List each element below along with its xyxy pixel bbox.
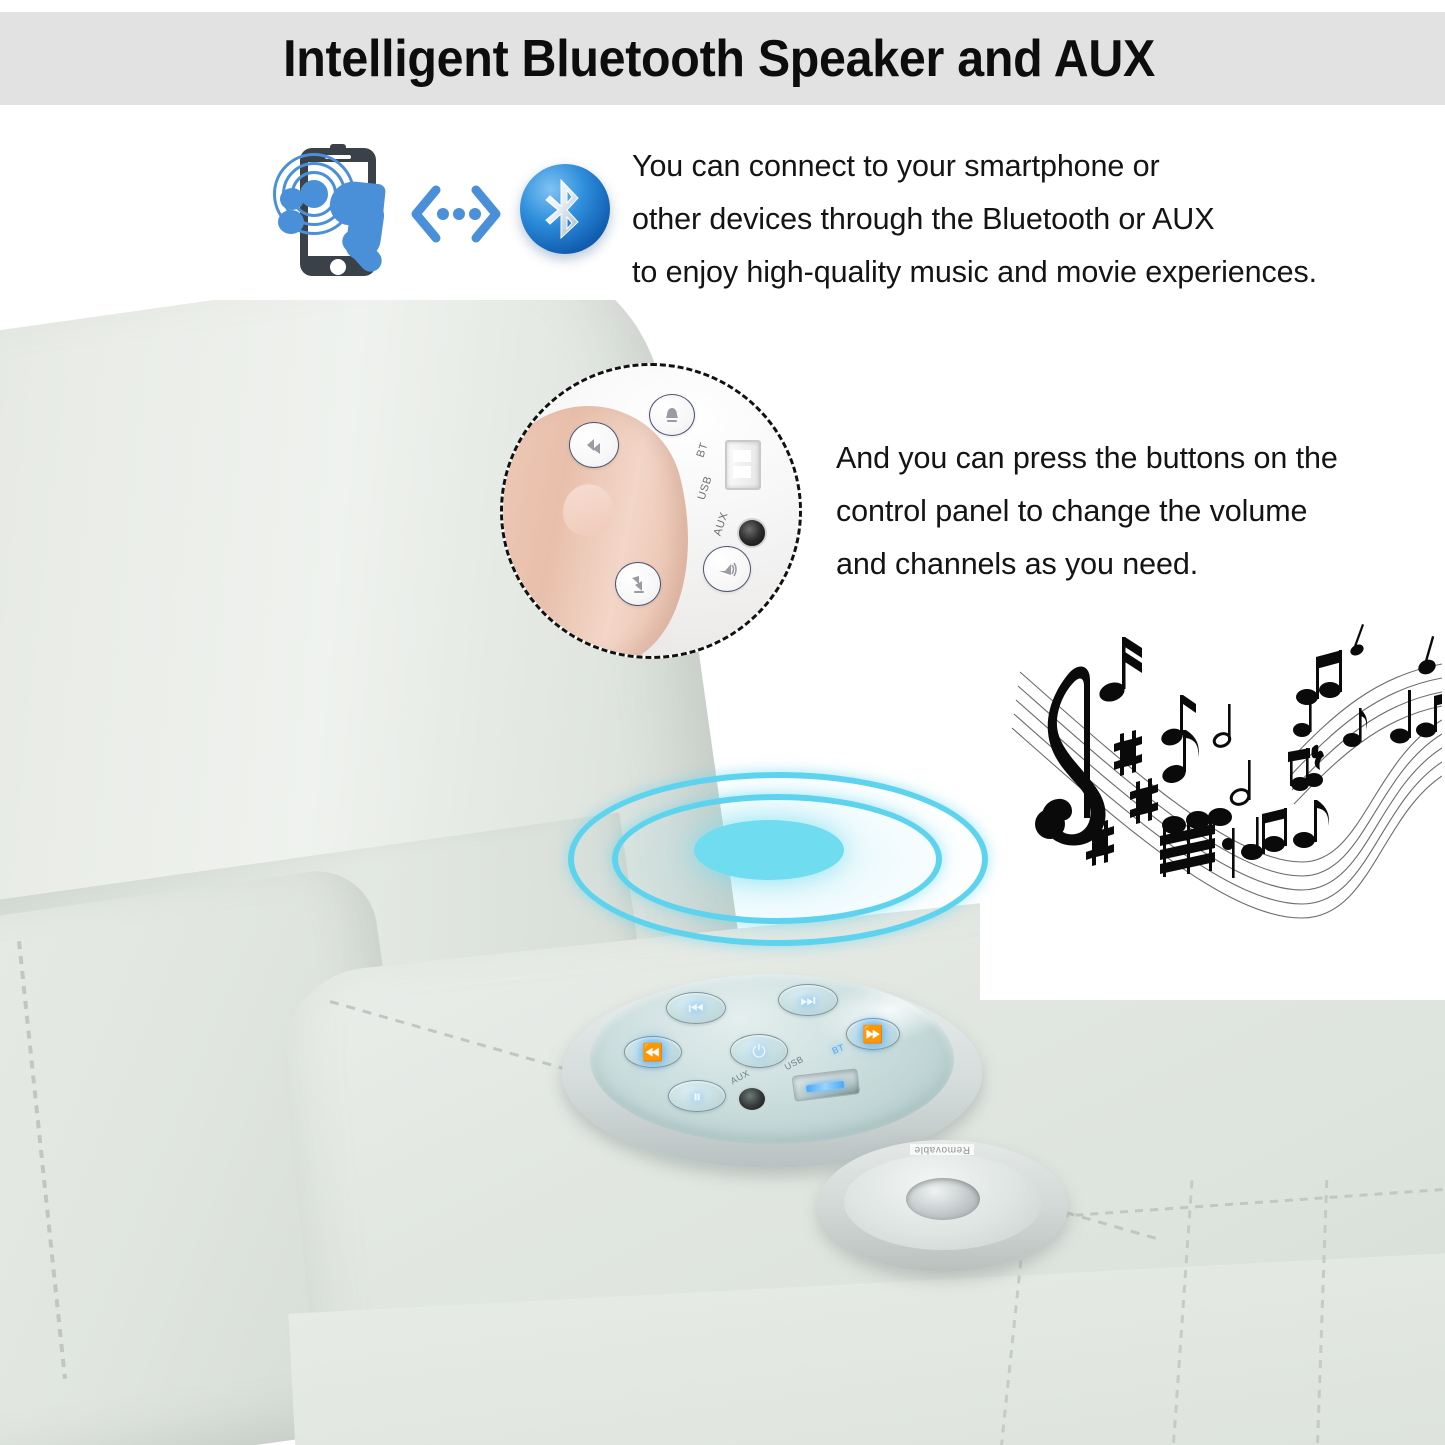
usb-led-indicator xyxy=(806,1081,845,1093)
closeup-channel-down-button[interactable] xyxy=(615,562,661,606)
closeup-bell-button[interactable] xyxy=(649,394,695,436)
feature-top-line-3: to enjoy high-quality music and movie ex… xyxy=(632,246,1317,299)
hand-knuckle-2 xyxy=(278,210,304,234)
smartphone-touch-icon xyxy=(278,144,398,284)
closeup-label-aux: AUX xyxy=(712,511,731,538)
music-staff-notes-icon xyxy=(1002,612,1442,930)
feature-mid-line-1: And you can press the buttons on the xyxy=(836,432,1338,485)
volume-up-icon: ⏩ xyxy=(862,1026,883,1043)
aux-jack[interactable] xyxy=(737,1086,767,1112)
header-banner: Intelligent Bluetooth Speaker and AUX xyxy=(0,12,1445,105)
mute-icon: ⏸ xyxy=(693,1088,702,1105)
connection-arrows-icon xyxy=(406,182,506,246)
cup-holder[interactable]: Removable xyxy=(818,1140,1068,1290)
feature-mid-line-3: and channels as you need. xyxy=(836,538,1338,591)
volume-down-button[interactable]: ⏪ xyxy=(624,1036,682,1068)
previous-track-icon: ⏮ xyxy=(688,1000,703,1017)
feature-top-line-2: other devices through the Bluetooth or A… xyxy=(632,193,1317,246)
feature-mid-line-2: control panel to change the volume xyxy=(836,485,1338,538)
feature-description-top: You can connect to your smartphone or ot… xyxy=(632,140,1317,299)
product-infographic: Intelligent Bluetooth Speaker and AUX xyxy=(0,0,1445,1445)
fingernail xyxy=(559,480,618,541)
cup-holder-center xyxy=(906,1178,980,1220)
feature-top-line-1: You can connect to your smartphone or xyxy=(632,140,1317,193)
phone-home-button xyxy=(330,259,346,275)
power-icon: ⏻ xyxy=(752,1043,765,1060)
closeup-label-bt: BT xyxy=(695,441,711,459)
closeup-volume-button[interactable] xyxy=(703,546,751,592)
page-title: Intelligent Bluetooth Speaker and AUX xyxy=(283,29,1162,89)
touch-ripple-1 xyxy=(300,180,328,208)
control-panel-closeup: BT USB AUX xyxy=(500,363,802,659)
previous-track-button[interactable]: ⏮ xyxy=(666,992,726,1024)
volume-up-button[interactable]: ⏩ xyxy=(846,1018,900,1050)
feature-description-mid: And you can press the buttons on the con… xyxy=(836,432,1338,591)
power-button[interactable]: ⏻ xyxy=(730,1034,788,1068)
closeup-usb-port xyxy=(725,440,761,490)
closeup-channel-up-button[interactable] xyxy=(569,422,619,468)
volume-down-icon: ⏪ xyxy=(642,1044,663,1061)
closeup-surface: BT USB AUX xyxy=(503,366,799,656)
bluetooth-logo-icon xyxy=(520,164,610,254)
mute-button[interactable]: ⏸ xyxy=(668,1080,726,1112)
closeup-aux-jack xyxy=(737,518,767,548)
closeup-label-usb: USB xyxy=(696,475,715,502)
next-track-icon: ⏭ xyxy=(800,992,815,1009)
connectivity-icon-row xyxy=(258,142,608,290)
next-track-button[interactable]: ⏭ xyxy=(778,984,838,1016)
cup-holder-label: Removable xyxy=(910,1144,974,1155)
hand-knuckle-1 xyxy=(280,188,304,210)
